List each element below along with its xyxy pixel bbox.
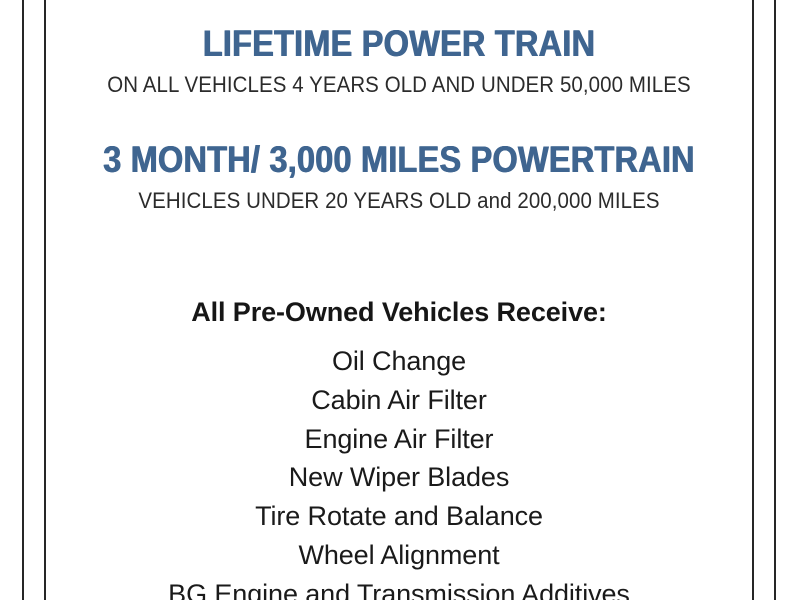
offer-subtitle-lifetime-powertrain: ON ALL VEHICLES 4 YEARS OLD AND UNDER 50… <box>71 73 728 96</box>
offer-subtitle-3month-powertrain: VEHICLES UNDER 20 YEARS OLD and 200,000 … <box>71 189 728 212</box>
offer-headline-3month-powertrain: 3 MONTH/ 3,000 MILES POWERTRAIN <box>88 141 709 178</box>
border-rule-left-outer <box>22 0 24 600</box>
flyer-content: LIFETIME POWER TRAIN ON ALL VEHICLES 4 Y… <box>46 0 752 600</box>
services-section: All Pre-Owned Vehicles Receive: Oil Chan… <box>46 299 752 600</box>
offer-block-lifetime-powertrain: LIFETIME POWER TRAIN ON ALL VEHICLES 4 Y… <box>46 25 752 96</box>
service-list-item: Wheel Alignment <box>46 536 752 575</box>
service-list-item: New Wiper Blades <box>46 458 752 497</box>
offer-block-3month-powertrain: 3 MONTH/ 3,000 MILES POWERTRAIN VEHICLES… <box>46 141 752 212</box>
service-list-item: BG Engine and Transmission Additives <box>46 575 752 600</box>
border-rule-right-outer <box>774 0 776 600</box>
service-list-item: Cabin Air Filter <box>46 381 752 420</box>
services-heading: All Pre-Owned Vehicles Receive: <box>46 299 752 326</box>
services-list: Oil Change Cabin Air Filter Engine Air F… <box>46 342 752 600</box>
service-list-item: Engine Air Filter <box>46 420 752 459</box>
border-rule-right-inner <box>752 0 754 600</box>
service-list-item: Tire Rotate and Balance <box>46 497 752 536</box>
service-list-item: Oil Change <box>46 342 752 381</box>
offer-headline-lifetime-powertrain: LIFETIME POWER TRAIN <box>88 25 709 62</box>
flyer-page: LIFETIME POWER TRAIN ON ALL VEHICLES 4 Y… <box>0 0 800 600</box>
